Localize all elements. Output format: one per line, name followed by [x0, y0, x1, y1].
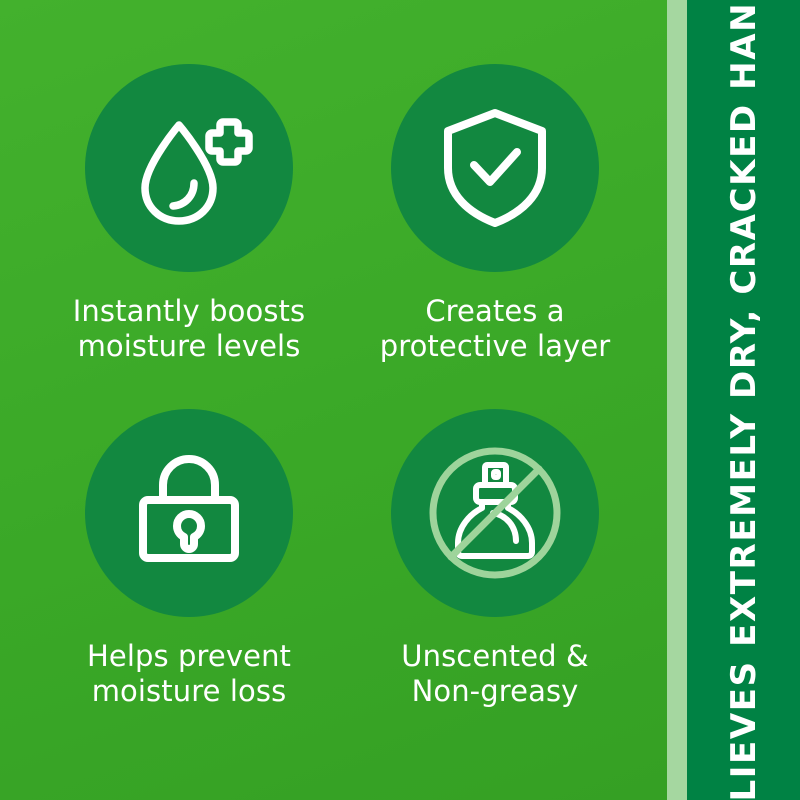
benefits-grid: Instantly boosts moisture levels Creates… [0, 0, 667, 800]
product-benefits-panel: Instantly boosts moisture levels Creates… [0, 0, 800, 800]
sidebar-headline-container: RELIEVES EXTREMELY DRY, CRACKED HANDS [687, 0, 800, 800]
benefit-caption-3: Helps prevent moisture loss [87, 639, 291, 710]
benefit-caption-1: Instantly boosts moisture levels [73, 294, 305, 365]
benefit-icon-circle-1 [85, 64, 293, 272]
benefit-item-1: Instantly boosts moisture levels [39, 64, 339, 365]
benefit-item-3: Helps prevent moisture loss [39, 409, 339, 710]
benefit-icon-circle-4 [391, 409, 599, 617]
water-drop-plus-icon [124, 103, 254, 233]
benefit-icon-circle-2 [391, 64, 599, 272]
benefit-item-2: Creates a protective layer [345, 64, 645, 365]
benefit-icon-circle-3 [85, 409, 293, 617]
benefit-item-4: Unscented & Non-greasy [345, 409, 645, 710]
sidebar-headline: RELIEVES EXTREMELY DRY, CRACKED HANDS [727, 0, 761, 800]
shield-check-icon [435, 106, 555, 230]
accent-stripe [667, 0, 687, 800]
benefit-caption-2: Creates a protective layer [380, 294, 611, 365]
no-fragrance-bottle-icon [420, 438, 570, 588]
benefit-caption-4: Unscented & Non-greasy [401, 639, 588, 710]
padlock-icon [130, 454, 248, 572]
